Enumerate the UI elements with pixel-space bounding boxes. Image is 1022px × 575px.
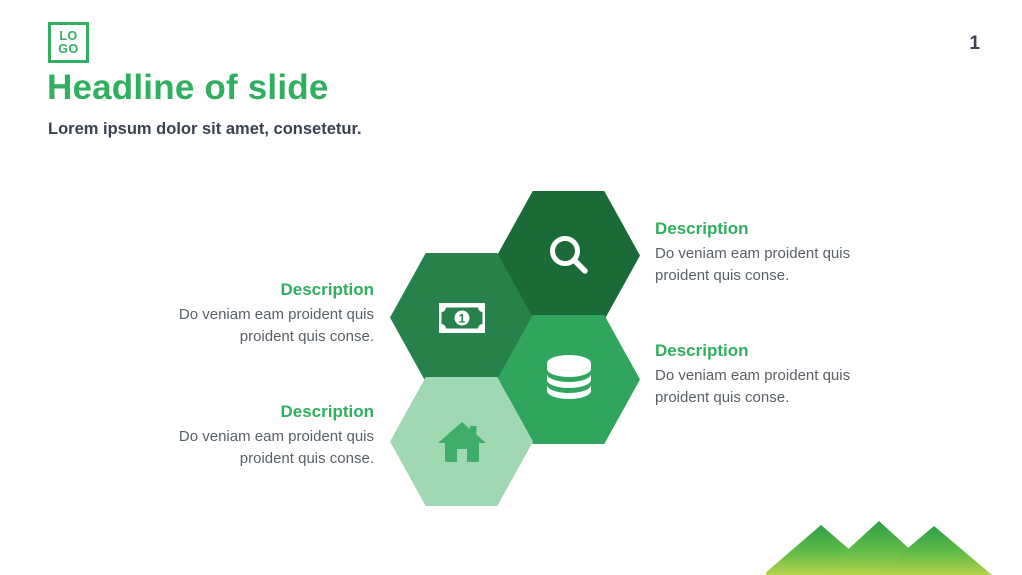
description-home: Description Do veniam eam proident quis … (150, 401, 374, 470)
description-body: Do veniam eam proident quis proident qui… (150, 304, 374, 348)
description-body: Do veniam eam proident quis proident qui… (655, 365, 885, 409)
page-number: 1 (969, 33, 980, 55)
page-subtitle: Lorem ipsum dolor sit amet, consetetur. (48, 120, 362, 139)
description-title: Description (655, 218, 885, 239)
logo: LO GO (48, 22, 89, 63)
logo-line-2: GO (58, 43, 78, 56)
mountains-decoration (766, 512, 1022, 575)
description-title: Description (655, 340, 885, 361)
database-icon (545, 354, 593, 406)
logo-line-1: LO (59, 30, 77, 43)
description-title: Description (150, 279, 374, 300)
search-icon (542, 229, 596, 283)
slide-canvas: LO GO 1 Headline of slide Lorem ipsum do… (0, 0, 1022, 575)
description-title: Description (150, 401, 374, 422)
page-title: Headline of slide (47, 68, 329, 108)
description-body: Do veniam eam proident quis proident qui… (150, 426, 374, 470)
description-search: Description Do veniam eam proident quis … (655, 218, 885, 287)
svg-text:1: 1 (458, 311, 465, 325)
description-body: Do veniam eam proident quis proident qui… (655, 243, 885, 287)
banknote-icon: 1 (439, 303, 485, 333)
description-database: Description Do veniam eam proident quis … (655, 340, 885, 409)
description-money: Description Do veniam eam proident quis … (150, 279, 374, 348)
house-icon (437, 420, 487, 464)
